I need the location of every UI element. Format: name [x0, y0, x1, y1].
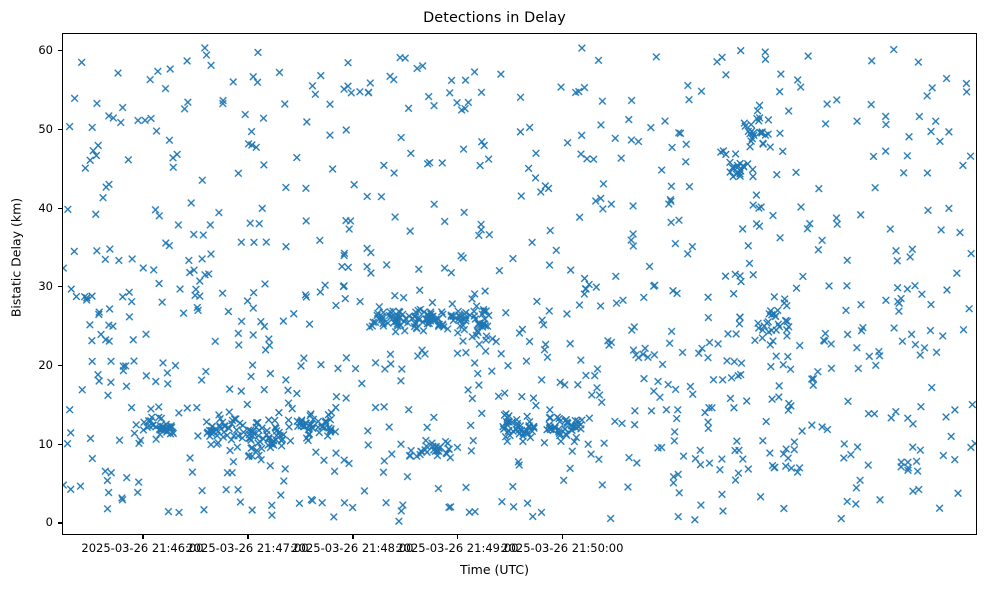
figure: Detections in Delay 2025-03-26 21:46:002…: [0, 0, 989, 590]
x-tick-mark: [457, 535, 458, 539]
chart-title: Detections in Delay: [0, 10, 989, 26]
x-tick-mark: [352, 535, 353, 539]
y-tick-label: 40: [38, 201, 53, 215]
x-axis-label: Time (UTC): [0, 562, 989, 577]
x-tick-label: 2025-03-26 21:48:00: [291, 541, 413, 555]
y-tick-label: 30: [38, 279, 53, 293]
y-tick-label: 10: [38, 437, 53, 451]
y-tick-mark: [58, 522, 62, 523]
y-tick-mark: [58, 286, 62, 287]
y-axis-label: Bistatic Delay (km): [9, 138, 24, 378]
y-tick-mark: [58, 444, 62, 445]
x-tick-label: 2025-03-26 21:47:00: [186, 541, 308, 555]
x-tick-label: 2025-03-26 21:49:00: [396, 541, 518, 555]
x-tick-mark: [247, 535, 248, 539]
y-tick-mark: [58, 208, 62, 209]
y-tick-label: 20: [38, 358, 53, 372]
scatter-plot-canvas: [63, 34, 976, 534]
x-tick-mark: [562, 535, 563, 539]
x-tick-label: 2025-03-26 21:50:00: [501, 541, 623, 555]
x-tick-mark: [142, 535, 143, 539]
y-tick-mark: [58, 129, 62, 130]
x-tick-label: 2025-03-26 21:46:00: [81, 541, 203, 555]
y-tick-label: 60: [38, 43, 53, 57]
y-tick-mark: [58, 365, 62, 366]
plot-axes: [62, 33, 977, 535]
y-tick-mark: [58, 50, 62, 51]
y-tick-label: 0: [46, 515, 53, 529]
y-tick-label: 50: [38, 122, 53, 136]
